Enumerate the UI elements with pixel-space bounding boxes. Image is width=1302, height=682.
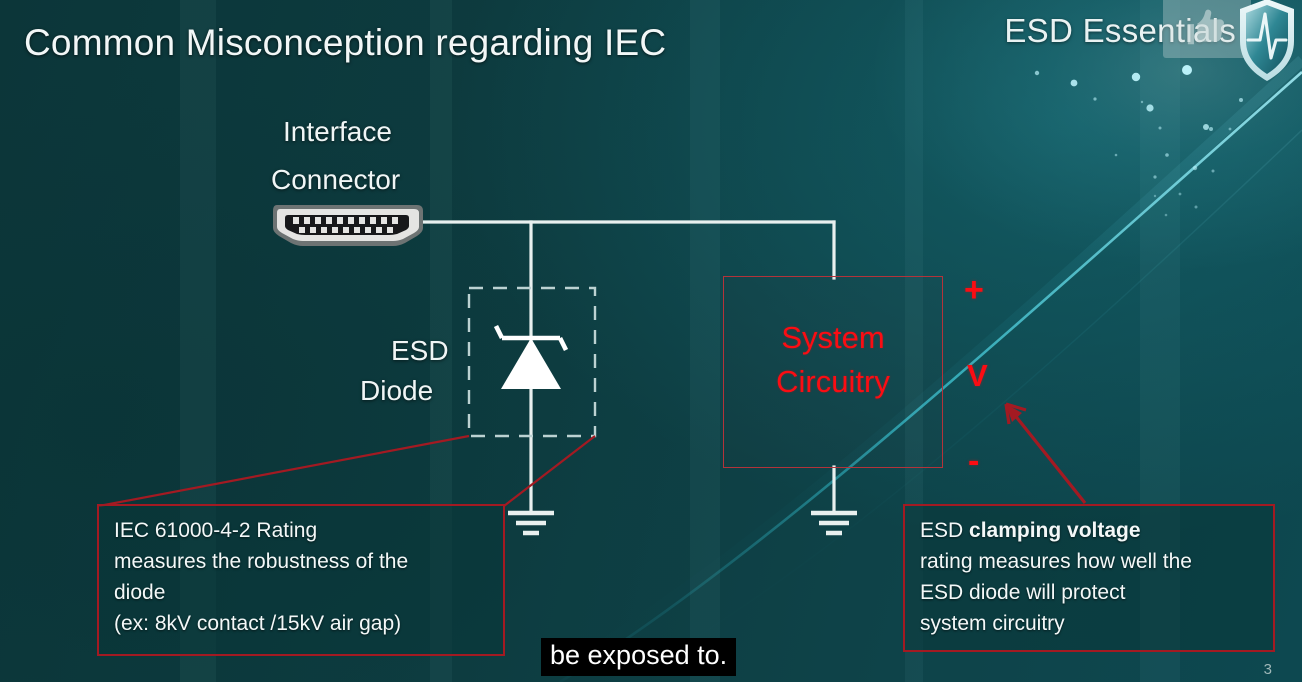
callout-left-leader-lines [99, 436, 595, 506]
callout-left-line4: (ex: 8kV contact /15kV air gap) [114, 609, 490, 640]
callout-left-line3: diode [114, 578, 490, 609]
callout-right-line3: ESD diode will protect [920, 578, 1260, 609]
interface-connector-label-line2: Connector [271, 156, 400, 204]
esd-diode-dashed-boundary [469, 288, 595, 436]
polarity-minus-marker: - [968, 442, 979, 481]
esd-diode-label-line2: Diode [360, 367, 433, 415]
callout-right-line1-prefix: ESD [920, 519, 969, 542]
polarity-plus-marker: + [964, 271, 984, 310]
voltage-v-marker: V [967, 358, 988, 394]
slide-title: Common Misconception regarding IEC [24, 22, 666, 64]
callout-left-line2: measures the robustness of the [114, 547, 490, 578]
callout-right-line1-bold: clamping voltage [969, 519, 1141, 542]
ground-symbol-icon [508, 513, 554, 533]
subtitle-caption: be exposed to. [541, 638, 736, 676]
page-number: 3 [1264, 661, 1272, 678]
hdmi-connector-icon [273, 205, 423, 246]
callout-iec-rating: IEC 61000-4-2 Rating measures the robust… [97, 504, 505, 656]
callout-left-line1: IEC 61000-4-2 Rating [114, 516, 490, 547]
callout-clamping-voltage: ESD clamping voltage rating measures how… [903, 504, 1275, 652]
callout-right-line1: ESD clamping voltage [920, 516, 1260, 547]
callout-right-line2: rating measures how well the [920, 547, 1260, 578]
system-circuitry-label: System Circuitry [723, 316, 943, 404]
slide-canvas: Common Misconception regarding IEC ESD E… [0, 0, 1302, 682]
callout-right-line4: system circuitry [920, 609, 1260, 640]
zener-diode-icon [496, 326, 566, 389]
interface-connector-label-line1: Interface [283, 108, 392, 156]
shield-pulse-icon [1236, 0, 1298, 85]
red-arrow-icon [1006, 404, 1085, 503]
ground-symbol-icon [811, 513, 857, 533]
